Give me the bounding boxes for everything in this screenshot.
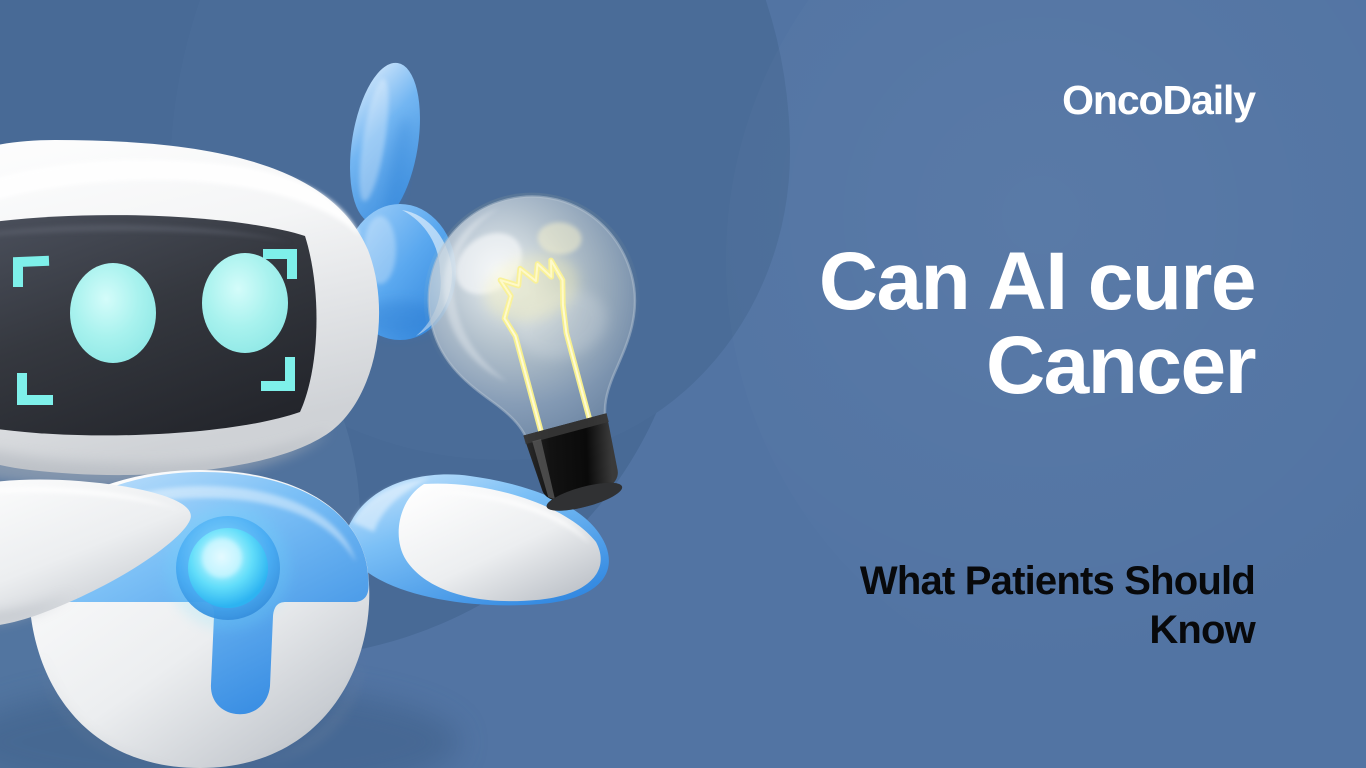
robot-eye-left bbox=[70, 263, 156, 363]
page-title: Can AI cure Cancer bbox=[819, 240, 1255, 409]
page-subtitle-line-1: What Patients Should bbox=[860, 557, 1255, 606]
slide-canvas: OncoDaily Can AI cure Cancer What Patien… bbox=[0, 0, 1366, 768]
page-subtitle: What Patients Should Know bbox=[860, 557, 1255, 655]
robot-antenna bbox=[340, 58, 431, 228]
robot-eye-right bbox=[202, 253, 288, 353]
brand-logo: OncoDaily bbox=[1062, 80, 1255, 121]
robot-head bbox=[0, 140, 379, 487]
text-column: OncoDaily Can AI cure Cancer What Patien… bbox=[695, 0, 1255, 768]
page-title-line-1: Can AI cure bbox=[819, 240, 1255, 324]
page-title-line-2: Cancer bbox=[819, 324, 1255, 408]
robot-illustration bbox=[0, 0, 660, 768]
robot-face-screen bbox=[0, 215, 316, 435]
page-subtitle-line-2: Know bbox=[860, 606, 1255, 655]
